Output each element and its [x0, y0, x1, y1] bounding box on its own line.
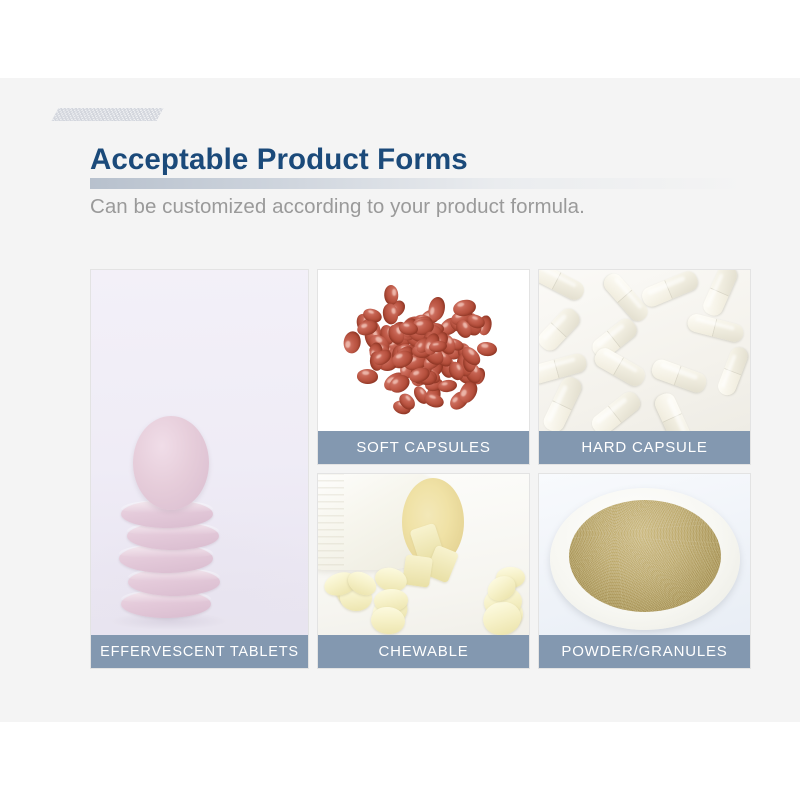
product-forms-banner: Acceptable Product Forms Can be customiz… — [0, 0, 800, 800]
title-underline — [90, 178, 750, 189]
hard-capsule — [716, 344, 750, 397]
card-label-effervescent-tablets: EFFERVESCENT TABLETS — [91, 635, 308, 668]
effervescent-tablets-image — [91, 270, 308, 668]
soft-capsule — [423, 391, 446, 409]
product-card-powder-granules[interactable]: POWDER/GRANULES — [538, 473, 751, 669]
page-subtitle: Can be customized according to your prod… — [90, 195, 750, 219]
hard-capsule — [592, 345, 648, 389]
chewable-tablet — [402, 554, 433, 587]
tablet-disc-upright — [133, 416, 209, 510]
page-title: Acceptable Product Forms — [90, 143, 750, 178]
card-label-hard-capsule: HARD CAPSULE — [539, 431, 750, 464]
hard-capsule — [539, 305, 583, 354]
card-label-powder-granules: POWDER/GRANULES — [539, 635, 750, 668]
product-card-chewable[interactable]: CHEWABLE — [317, 473, 530, 669]
product-forms-grid: EFFERVESCENT TABLETS SOFT CAPSULES HARD … — [90, 269, 750, 673]
product-card-hard-capsule[interactable]: HARD CAPSULE — [538, 269, 751, 465]
hatched-parallelogram-icon — [52, 108, 164, 121]
header-block: Acceptable Product Forms Can be customiz… — [90, 143, 750, 219]
bottle-ridges — [318, 474, 344, 570]
soft-capsule — [477, 341, 498, 357]
hard-capsule — [541, 374, 584, 434]
card-label-chewable: CHEWABLE — [318, 635, 529, 668]
hard-capsule — [539, 270, 588, 303]
soft-capsule — [356, 369, 378, 385]
product-card-effervescent-tablets[interactable]: EFFERVESCENT TABLETS — [90, 269, 309, 669]
hard-capsule — [649, 357, 709, 395]
product-card-soft-capsules[interactable]: SOFT CAPSULES — [317, 269, 530, 465]
card-label-soft-capsules: SOFT CAPSULES — [318, 431, 529, 464]
hard-capsule — [639, 270, 700, 310]
hard-capsule — [686, 312, 746, 344]
hard-capsule — [700, 270, 739, 318]
soft-capsule — [342, 330, 361, 354]
granule-heap — [569, 500, 721, 612]
